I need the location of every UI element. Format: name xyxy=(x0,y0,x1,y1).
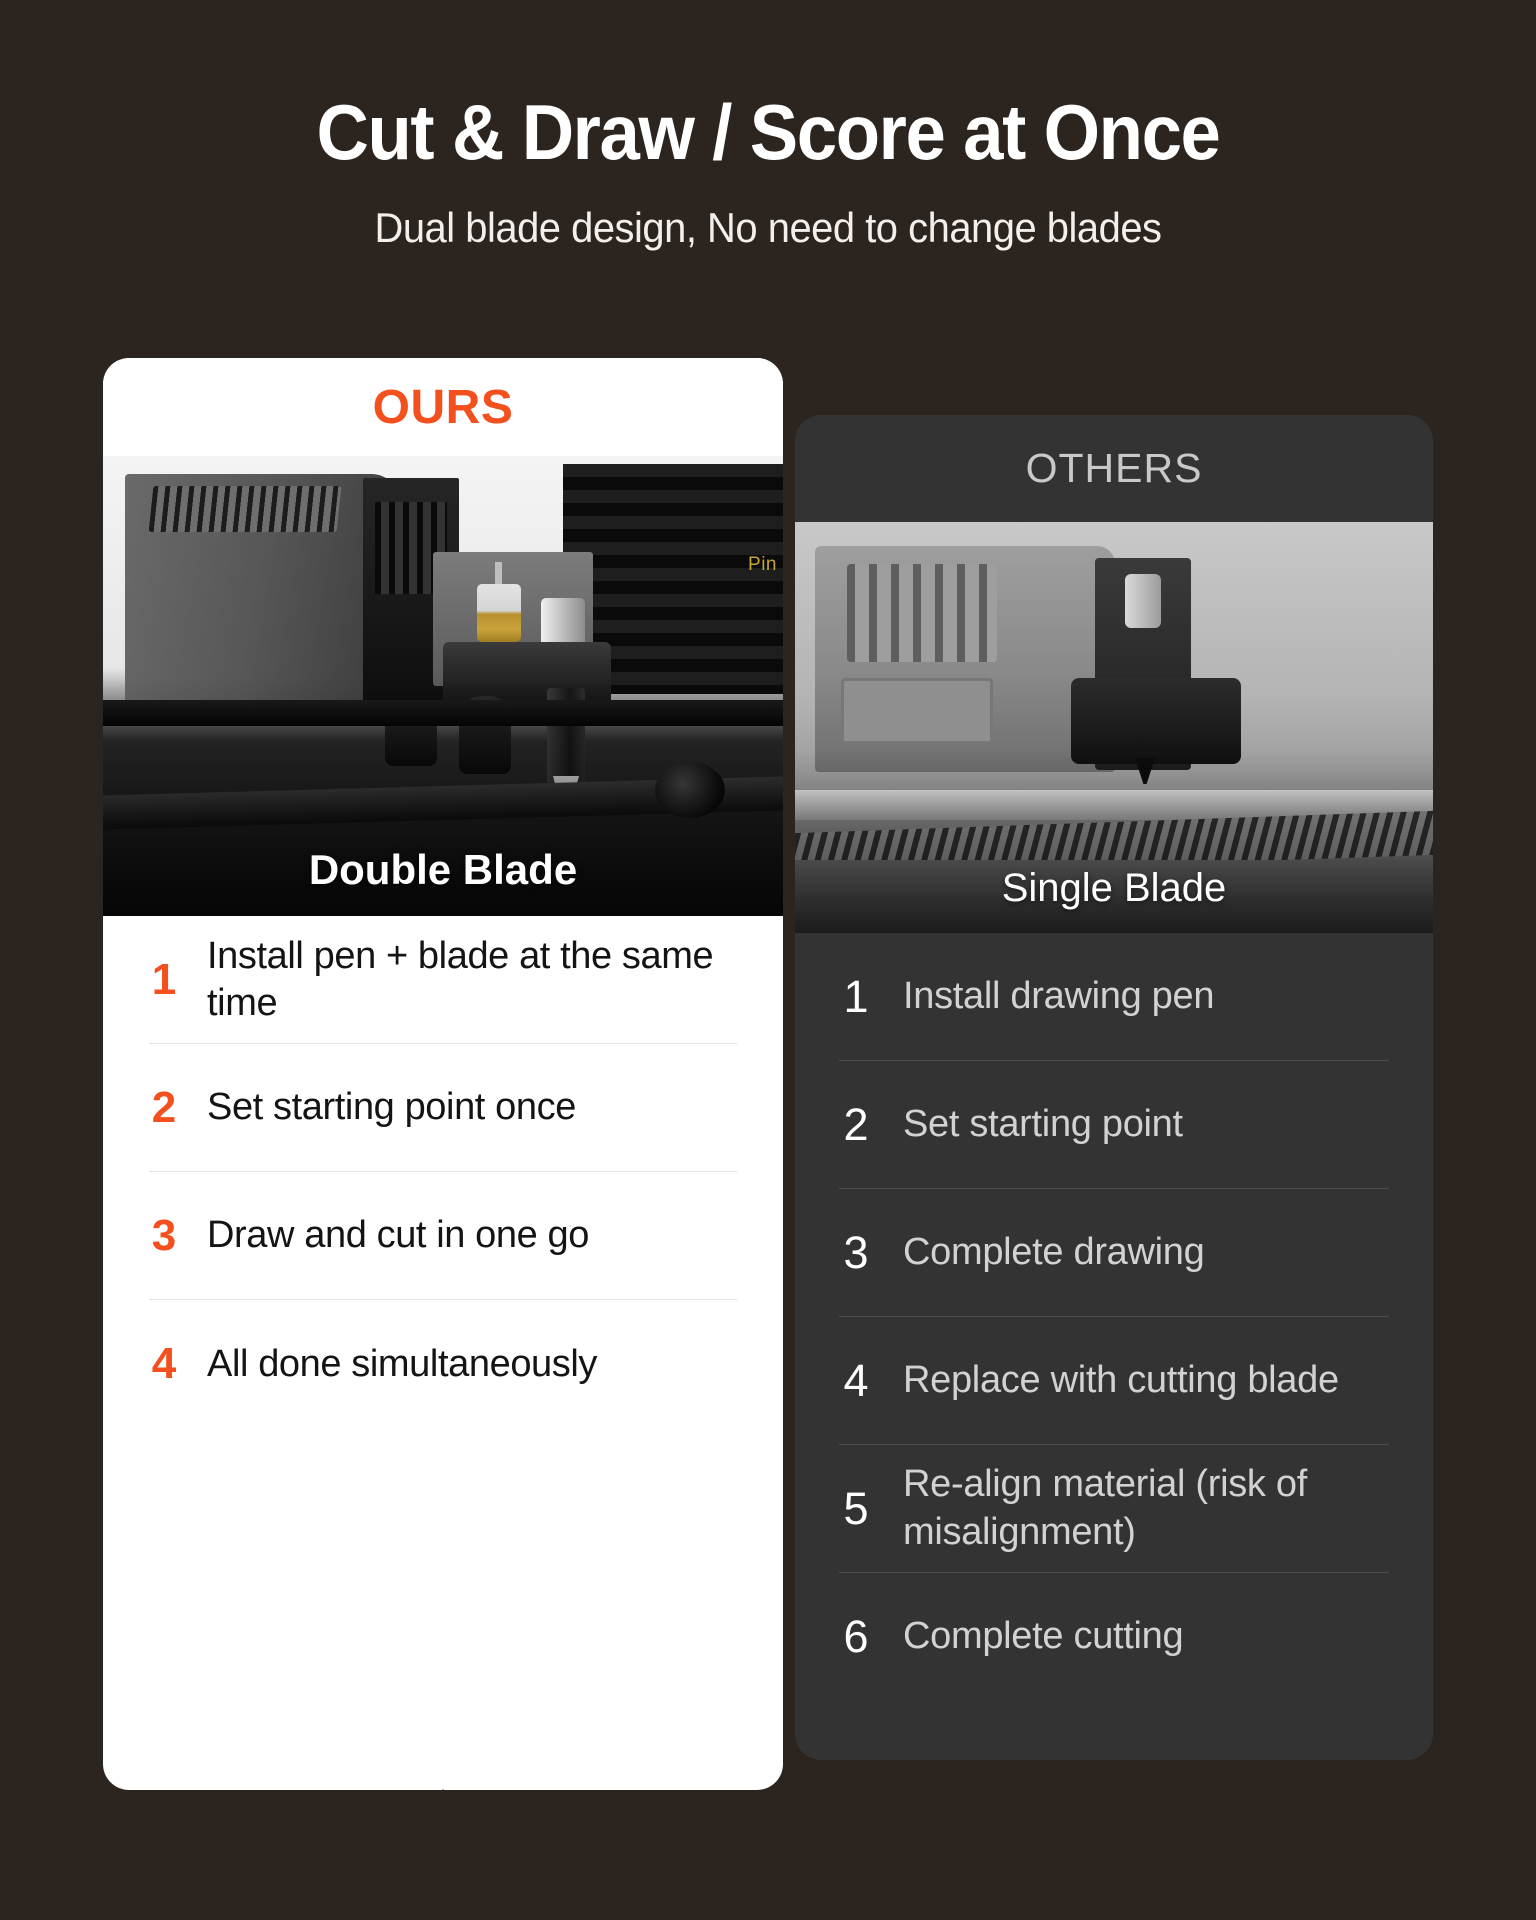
page-header: Cut & Draw / Score at Once Dual blade de… xyxy=(0,92,1536,252)
page-subtitle: Dual blade design, No need to change bla… xyxy=(38,204,1497,252)
step-text: Set starting point once xyxy=(207,1084,576,1130)
ours-product-photo: Pin Double Blade xyxy=(103,456,783,916)
list-item: 1 Install drawing pen xyxy=(839,933,1389,1061)
others-comparison-card: OTHERS Single Blade 1 Inst xyxy=(795,415,1433,1760)
step-number: 3 xyxy=(149,1211,179,1261)
others-badge-label: OTHERS xyxy=(1026,445,1203,492)
step-text: Install drawing pen xyxy=(903,973,1214,1021)
step-number: 3 xyxy=(839,1227,873,1279)
page-title: Cut & Draw / Score at Once xyxy=(54,92,1482,174)
others-photo-caption: Single Blade xyxy=(795,866,1433,911)
list-item: 6 Complete cutting xyxy=(839,1573,1389,1701)
list-item: 3 Draw and cut in one go xyxy=(149,1172,737,1300)
step-text: Re-align material (risk of misalignment) xyxy=(903,1461,1389,1557)
list-item: 1 Install pen + blade at the same time xyxy=(149,916,737,1044)
list-item: 4 All done simultaneously xyxy=(149,1300,737,1428)
others-card-header: OTHERS xyxy=(795,415,1433,522)
step-text: All done simultaneously xyxy=(207,1341,597,1387)
step-number: 6 xyxy=(839,1611,873,1663)
others-steps-list: 1 Install drawing pen 2 Set starting poi… xyxy=(795,933,1433,1701)
list-item: 2 Set starting point xyxy=(839,1061,1389,1189)
list-item: 5 Re-align material (risk of misalignmen… xyxy=(839,1445,1389,1573)
step-number: 4 xyxy=(839,1355,873,1407)
step-text: Set starting point xyxy=(903,1101,1183,1149)
list-item: 4 Replace with cutting blade xyxy=(839,1317,1389,1445)
step-number: 2 xyxy=(149,1083,179,1133)
ours-steps-list: 1 Install pen + blade at the same time 2… xyxy=(103,916,783,1428)
step-number: 2 xyxy=(839,1099,873,1151)
step-number: 1 xyxy=(839,971,873,1023)
step-number: 5 xyxy=(839,1483,873,1535)
step-text: Replace with cutting blade xyxy=(903,1357,1339,1405)
step-text: Draw and cut in one go xyxy=(207,1212,589,1258)
ours-card-header: OURS xyxy=(103,358,783,456)
promo-page: Cut & Draw / Score at Once Dual blade de… xyxy=(0,0,1536,1920)
step-text: Complete drawing xyxy=(903,1229,1204,1277)
ours-comparison-card: OURS Pin xyxy=(103,358,783,1790)
others-product-photo: Single Blade xyxy=(795,522,1433,933)
list-item: 3 Complete drawing xyxy=(839,1189,1389,1317)
list-item: 2 Set starting point once xyxy=(149,1044,737,1172)
step-number: 4 xyxy=(149,1339,179,1389)
faster-badge: 50% Faster xyxy=(103,1783,783,1790)
ours-badge-label: OURS xyxy=(373,380,514,435)
ours-photo-caption: Double Blade xyxy=(103,846,783,894)
step-text: Complete cutting xyxy=(903,1613,1183,1661)
up-arrow-icon: 50% Faster xyxy=(243,1783,643,1790)
step-text: Install pen + blade at the same time xyxy=(207,933,737,1026)
step-number: 1 xyxy=(149,955,179,1005)
